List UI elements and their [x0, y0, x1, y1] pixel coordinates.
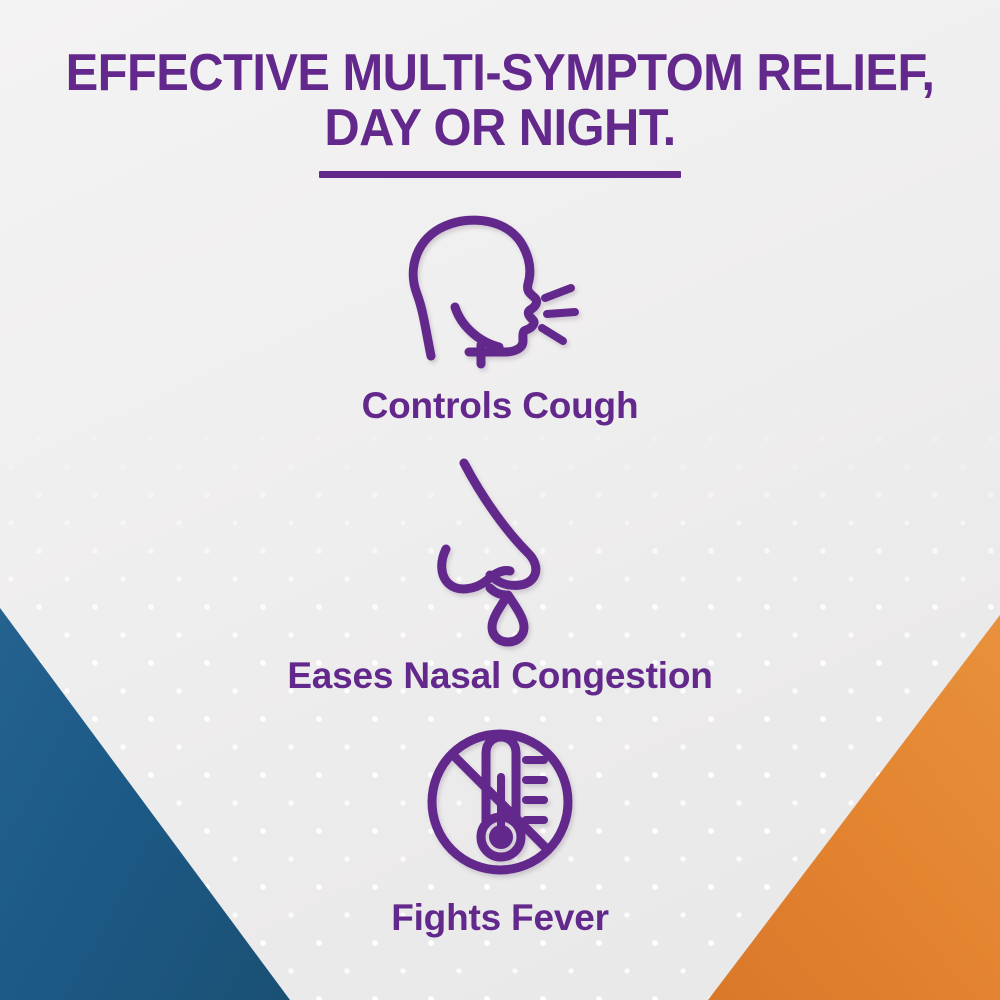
benefit-item-nasal: Eases Nasal Congestion	[0, 453, 1000, 694]
benefit-label-nasal: Eases Nasal Congestion	[0, 657, 1000, 694]
benefit-item-fever: Fights Fever	[0, 727, 1000, 936]
coughing-head-icon	[395, 214, 605, 364]
infographic-canvas: EFFECTIVE MULTI-SYMPTOM RELIEF, DAY OR N…	[0, 0, 1000, 1000]
benefit-icon-wrap-cough	[0, 214, 1000, 364]
benefit-list: Controls Cough Eases Nasal Congestion	[0, 214, 1000, 936]
benefit-label-cough: Controls Cough	[0, 387, 1000, 424]
headline-underline-rule	[319, 171, 681, 178]
benefit-label-fever: Fights Fever	[0, 899, 1000, 936]
page-title: EFFECTIVE MULTI-SYMPTOM RELIEF, DAY OR N…	[30, 46, 970, 156]
benefit-item-cough: Controls Cough	[0, 214, 1000, 424]
headline-block: EFFECTIVE MULTI-SYMPTOM RELIEF, DAY OR N…	[0, 46, 1000, 178]
runny-nose-icon	[410, 453, 590, 633]
benefit-icon-wrap-fever	[0, 727, 1000, 877]
no-thermometer-icon	[420, 727, 580, 877]
benefit-icon-wrap-nasal	[0, 453, 1000, 633]
